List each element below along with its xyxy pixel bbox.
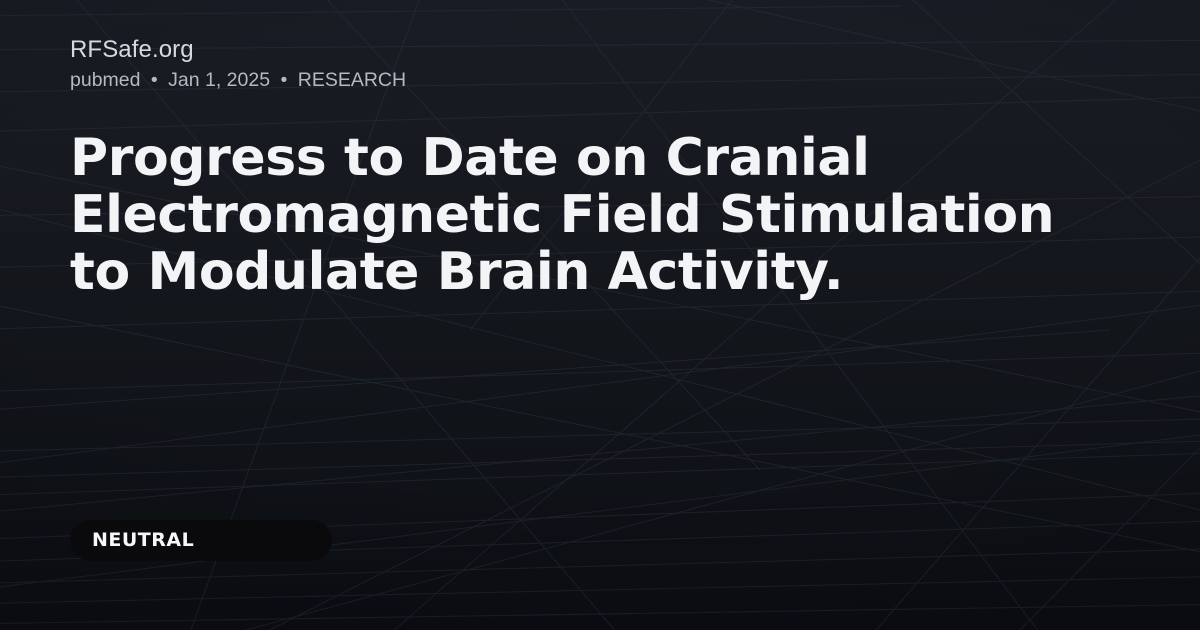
brand-name: RFSafe.org (70, 34, 1130, 66)
meta-date: Jan 1, 2025 (168, 69, 270, 91)
status-badge-label: NEUTRAL (92, 529, 194, 551)
social-share-card: RFSafe.org pubmed • Jan 1, 2025 • RESEAR… (0, 0, 1200, 630)
meta-separator-1: • (146, 69, 163, 91)
meta-category: RESEARCH (298, 69, 406, 91)
meta-separator-2: • (275, 69, 292, 91)
badge-row: NEUTRAL (70, 519, 332, 561)
status-badge: NEUTRAL (70, 519, 332, 561)
page-title: Progress to Date on Cranial Electromagne… (70, 130, 1090, 301)
meta-source: pubmed (70, 69, 140, 91)
article-meta: pubmed • Jan 1, 2025 • RESEARCH (70, 67, 1130, 94)
